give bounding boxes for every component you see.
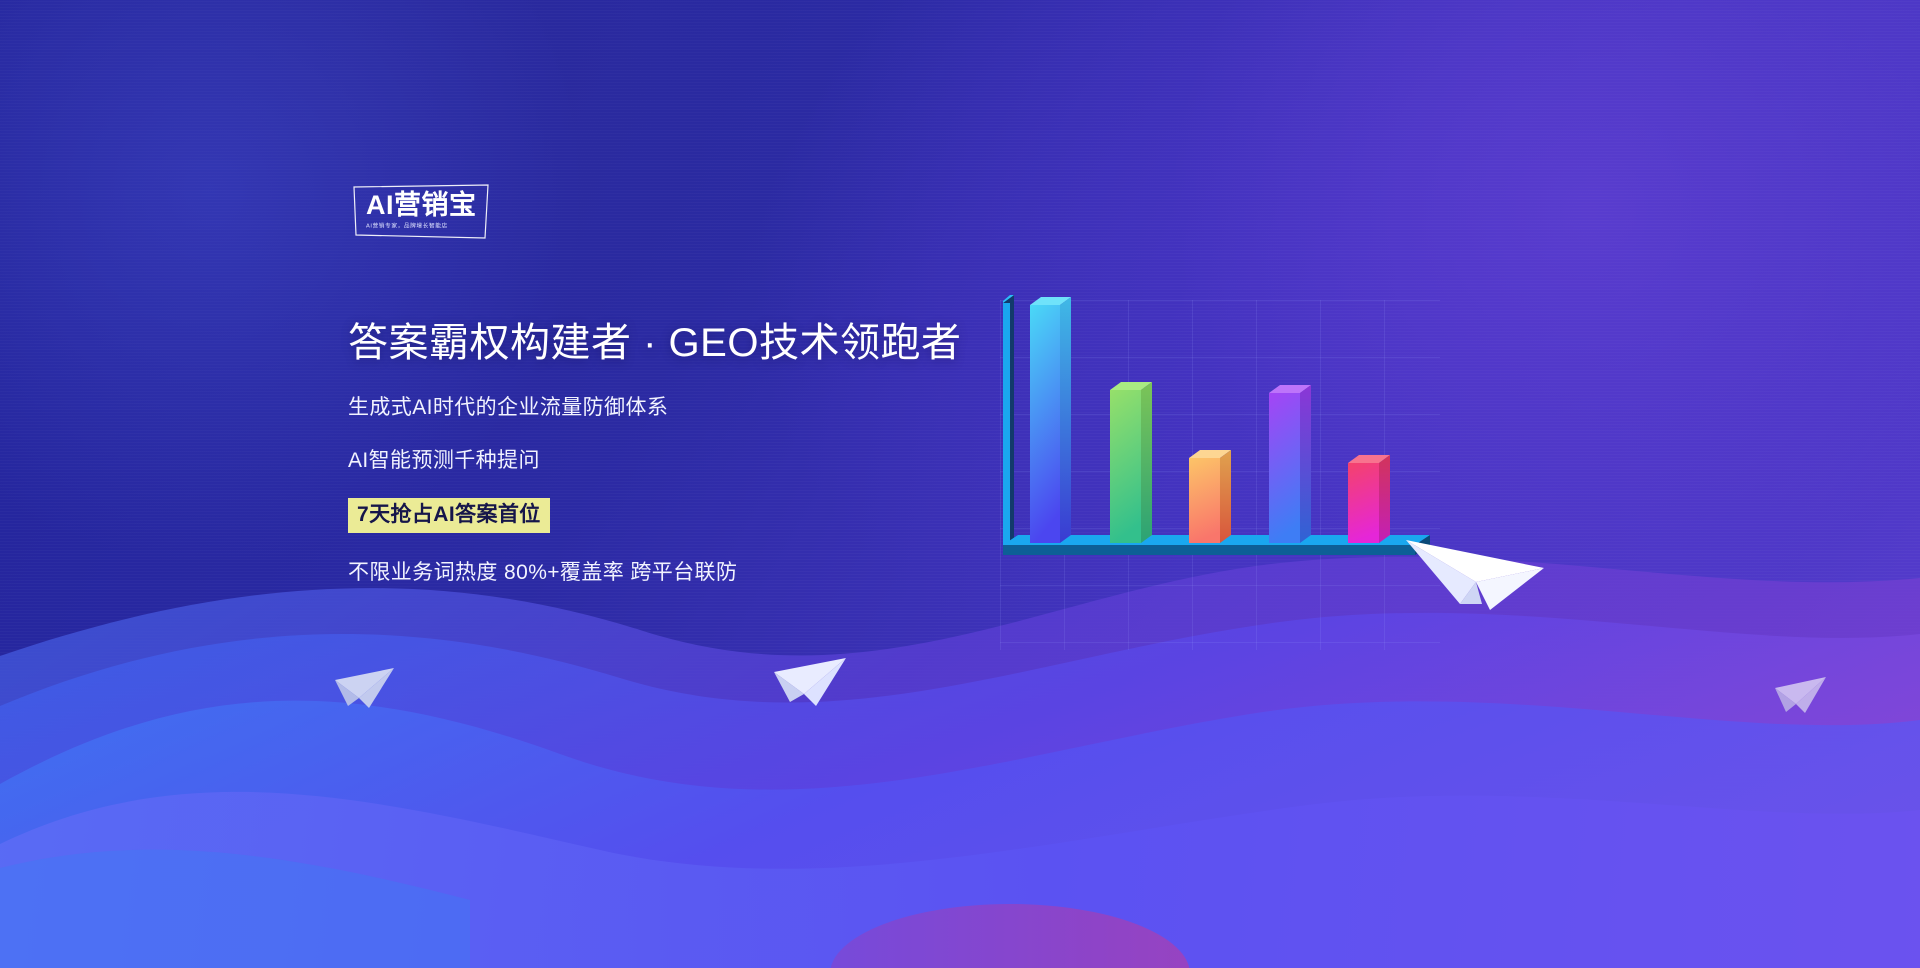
hero-subtitle-3: 不限业务词热度 80%+覆盖率 跨平台联防 — [348, 558, 1048, 587]
hero-highlight-row: 7天抢占AI答案首位 — [348, 498, 1048, 533]
page-title: 答案霸权构建者 · GEO技术领跑者 — [348, 315, 1048, 371]
paper-plane-icon — [1772, 672, 1830, 718]
hero-subtitle-2: AI智能预测千种提问 — [348, 446, 1048, 475]
logo-tagline: AI营销专家，品牌增长智能店 — [366, 221, 472, 230]
chart-bar-2 — [1110, 382, 1152, 543]
chart-bar-3 — [1189, 450, 1231, 543]
chart-bar-1 — [1030, 297, 1071, 543]
paper-plane-icon — [770, 650, 850, 712]
brand-logo[interactable]: AI营销宝 AI营销专家，品牌增长智能店 — [352, 183, 490, 241]
chart-bar-4 — [1269, 385, 1311, 543]
chart-y-axis — [1003, 295, 1014, 545]
paper-plane-icon — [332, 662, 398, 714]
hero-highlight-badge: 7天抢占AI答案首位 — [348, 498, 550, 533]
hero-banner: AI营销宝 AI营销专家，品牌增长智能店 答案霸权构建者 · GEO技术领跑者 … — [0, 0, 1920, 968]
logo-wordmark: AI营销宝 — [366, 191, 478, 220]
hero-copy: 答案霸权构建者 · GEO技术领跑者 生成式AI时代的企业流量防御体系 AI智能… — [348, 315, 1048, 587]
hero-subtitle-1: 生成式AI时代的企业流量防御体系 — [348, 393, 1048, 422]
chart-bar-5 — [1348, 455, 1390, 543]
paper-plane-icon — [1398, 512, 1548, 624]
background-waves — [0, 538, 1920, 968]
